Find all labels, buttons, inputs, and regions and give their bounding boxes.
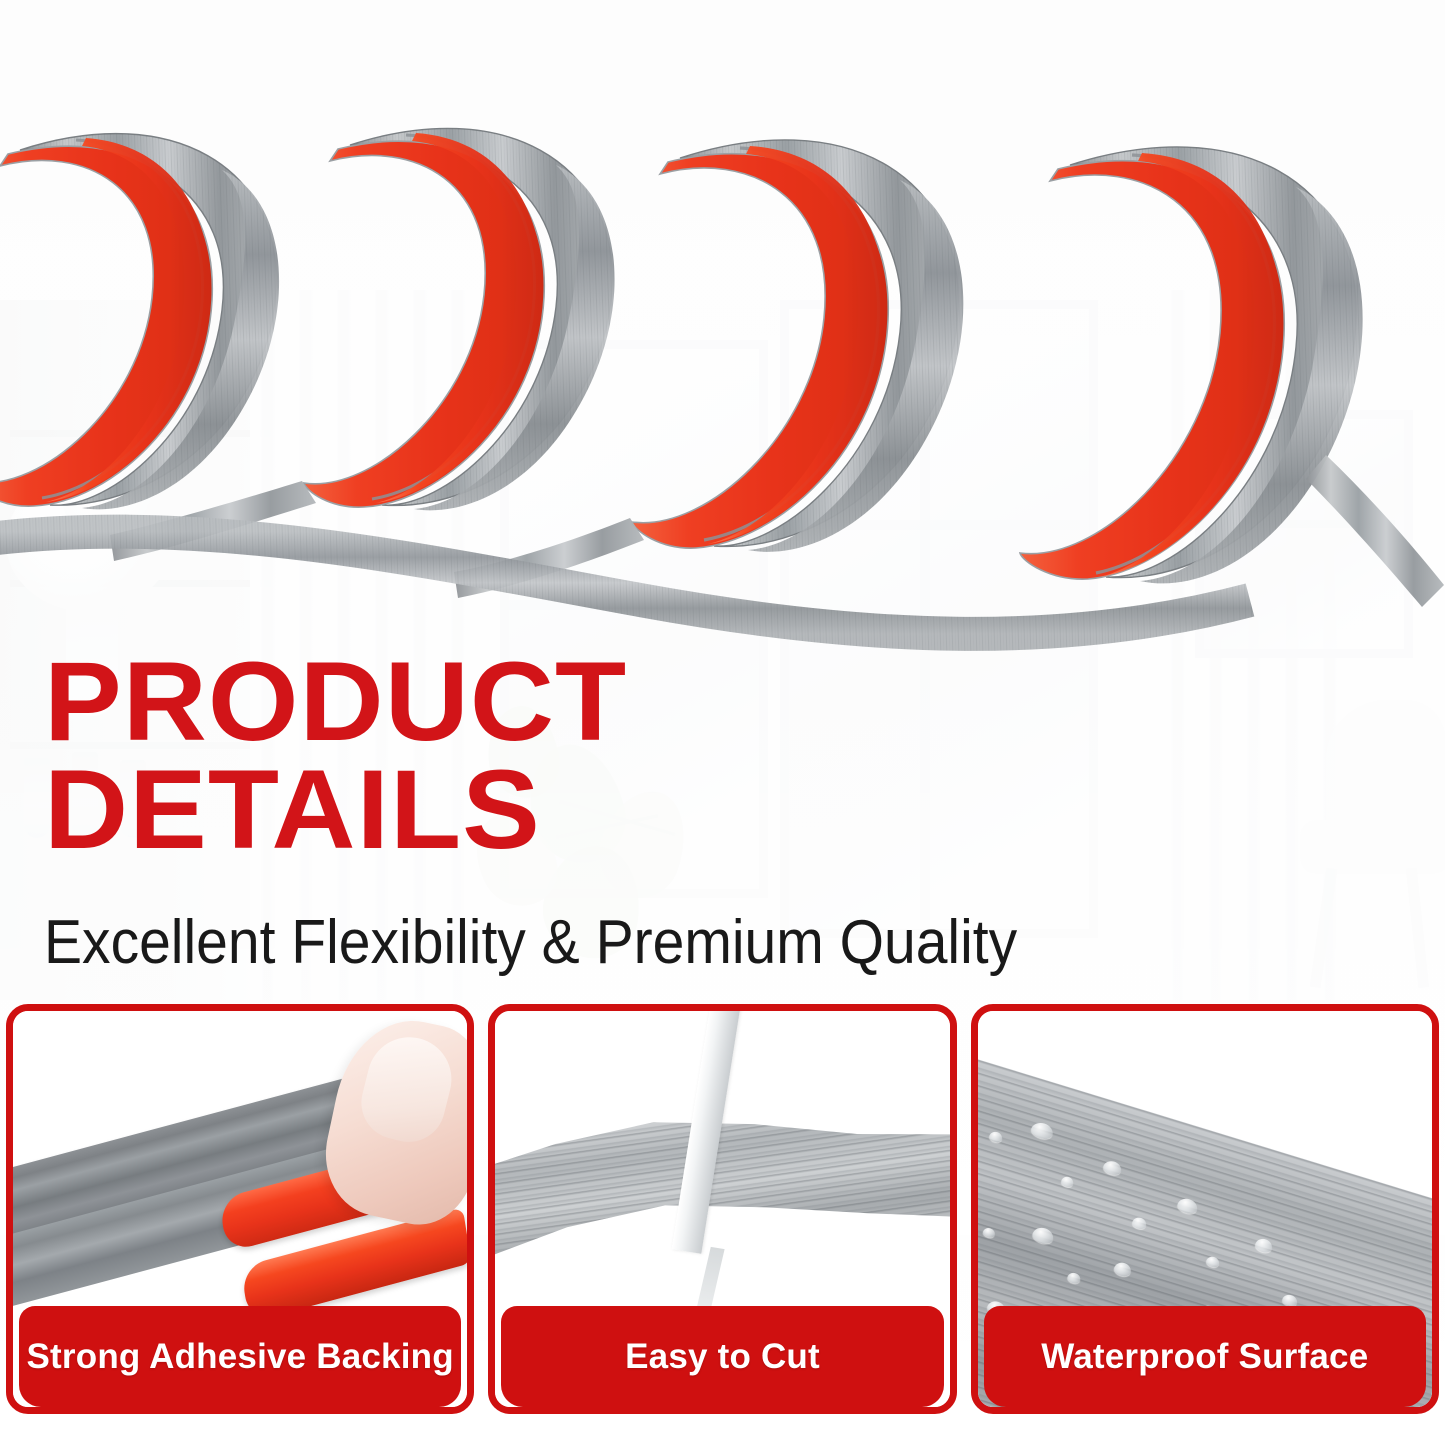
water-droplet: [1102, 1159, 1123, 1177]
feature-panel-cut[interactable]: Easy to Cut: [488, 1004, 956, 1414]
water-droplet: [988, 1130, 1003, 1143]
water-droplet: [1060, 1175, 1074, 1188]
water-droplet: [1112, 1261, 1132, 1278]
water-droplet: [1031, 1225, 1055, 1245]
feature-panel-waterproof[interactable]: Waterproof Surface: [971, 1004, 1439, 1414]
panel-caption-waterproof: Waterproof Surface: [984, 1306, 1426, 1407]
water-droplet: [1066, 1271, 1081, 1284]
water-droplet: [982, 1227, 996, 1239]
page-title-line-1: PRODUCT: [44, 648, 1250, 756]
hero-heading-block: PRODUCT DETAILS: [44, 648, 1204, 864]
feature-panel-adhesive[interactable]: Strong Adhesive Backing: [6, 1004, 474, 1414]
panel-caption-cut: Easy to Cut: [501, 1306, 943, 1407]
water-droplet: [1176, 1196, 1199, 1215]
water-droplet: [1205, 1255, 1220, 1268]
water-droplet: [1029, 1120, 1054, 1141]
feature-panel-row: Strong Adhesive Backing Easy to Cut: [0, 1004, 1445, 1445]
panel-caption-adhesive: Strong Adhesive Backing: [19, 1306, 461, 1407]
water-droplet: [1253, 1237, 1273, 1254]
coil-4: [1020, 147, 1444, 607]
product-detail-infographic: PRODUCT DETAILS Excellent Flexibility & …: [0, 0, 1445, 1445]
page-subtitle: Excellent Flexibility & Premium Quality: [44, 908, 1017, 978]
water-droplet: [1131, 1216, 1148, 1231]
coil-3: [454, 140, 963, 598]
page-title-line-2: DETAILS: [44, 756, 1250, 864]
coil-1: [0, 134, 279, 540]
